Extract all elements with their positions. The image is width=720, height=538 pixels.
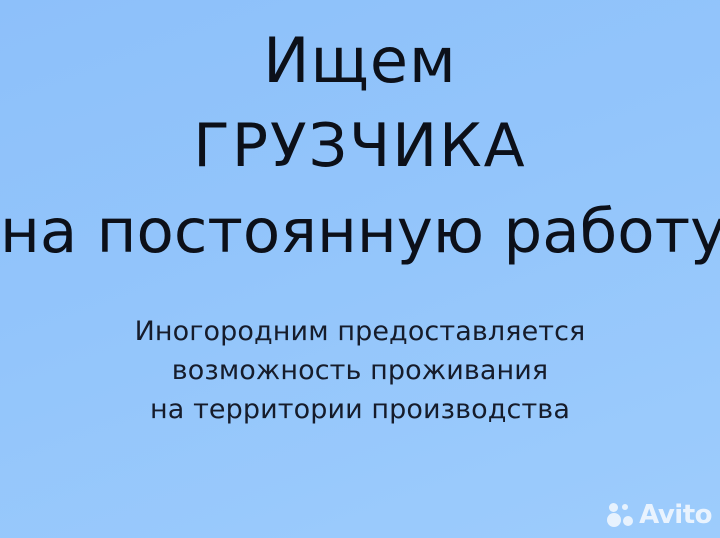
subtitle-line-3: на территории производства (0, 390, 720, 429)
subtitle-block: Иногородним предоставляется возможность … (0, 312, 720, 429)
avito-dots-icon (607, 503, 635, 527)
headline-line-1: Ищем (0, 18, 720, 104)
headline-block: Ищем ГРУЗЧИКА на постоянную работу (0, 18, 720, 276)
advertisement-image: Ищем ГРУЗЧИКА на постоянную работу Иного… (0, 0, 720, 538)
headline-line-2: ГРУЗЧИКА (0, 104, 720, 188)
avito-watermark: Avito (607, 502, 712, 528)
headline-line-3: на постоянную работу (0, 188, 720, 276)
avito-wordmark: Avito (639, 502, 712, 528)
subtitle-line-2: возможность проживания (0, 351, 720, 390)
subtitle-line-1: Иногородним предоставляется (0, 312, 720, 351)
